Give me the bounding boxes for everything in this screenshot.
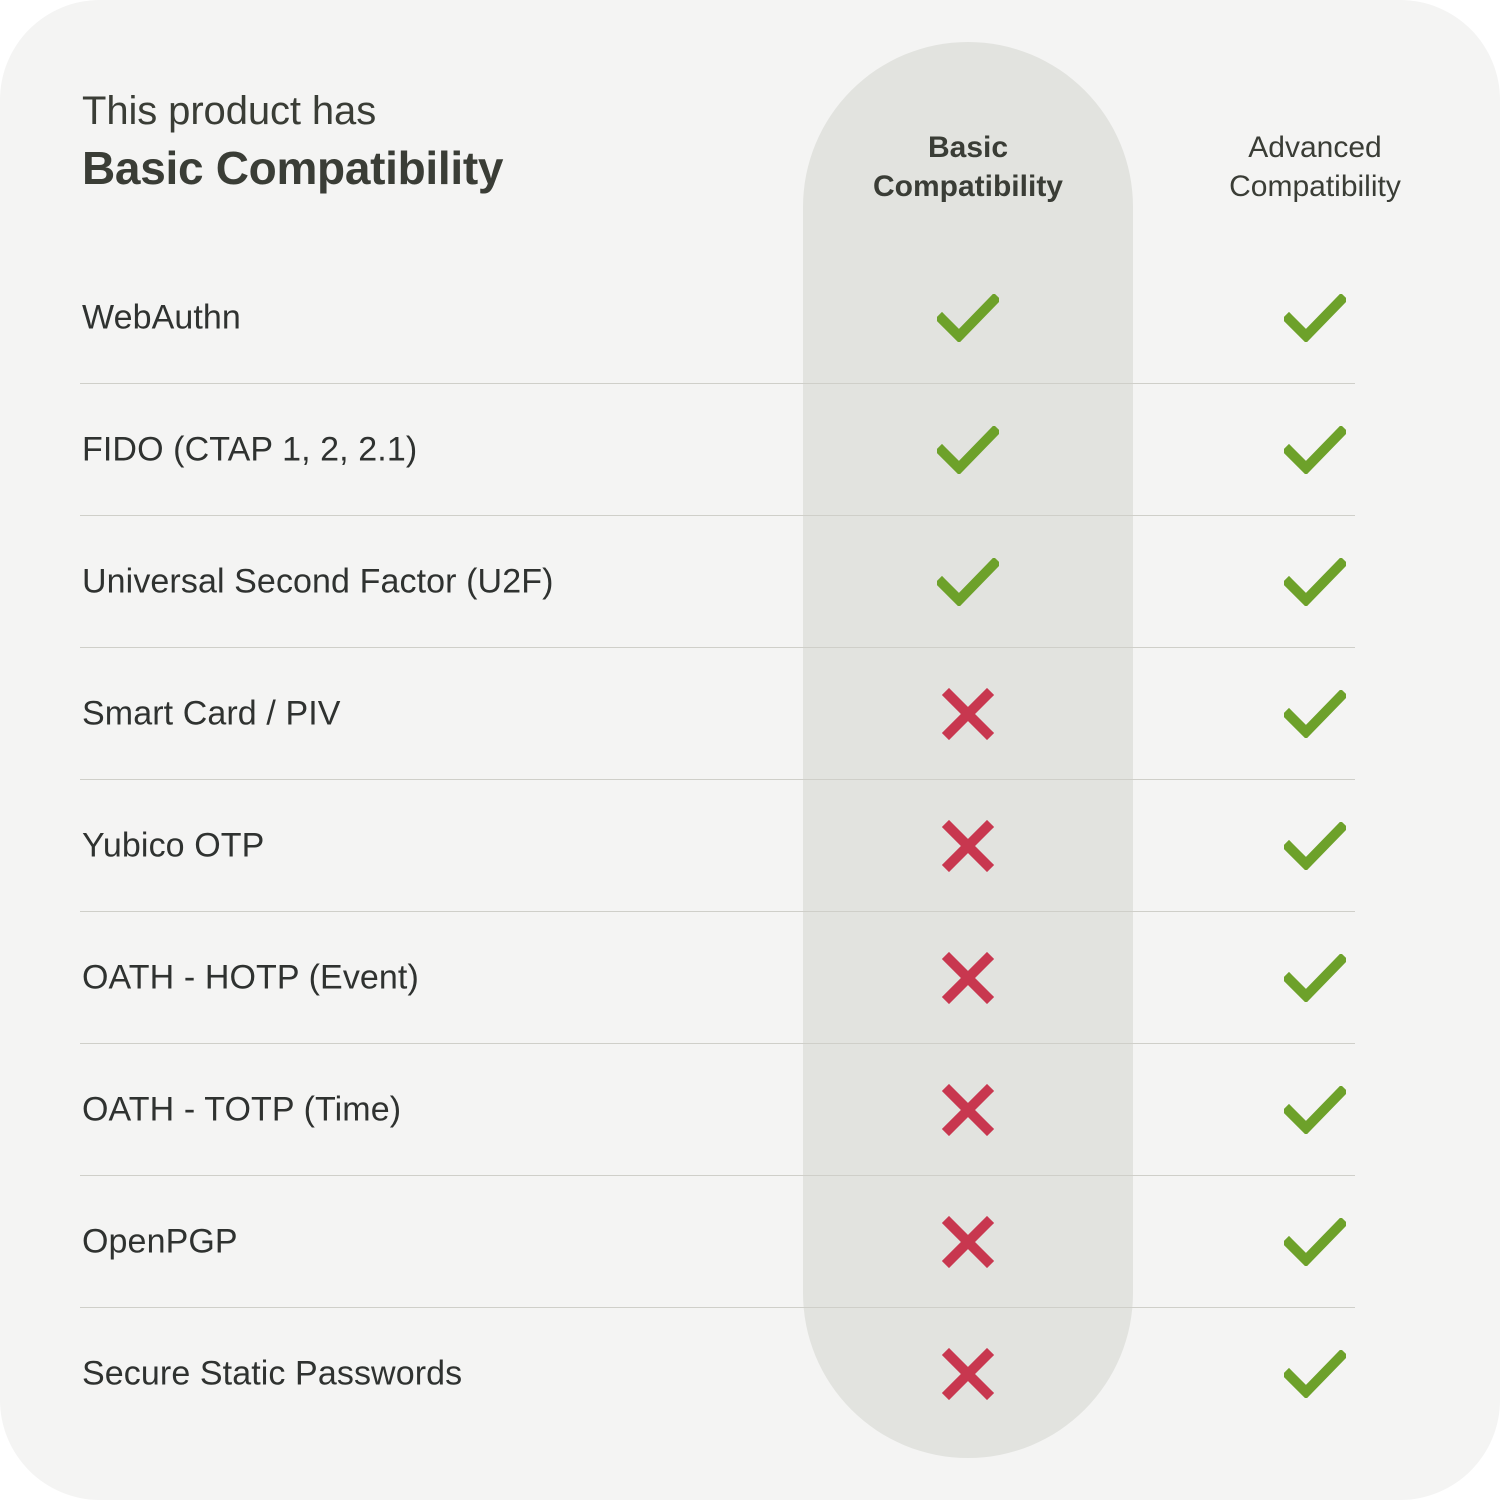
check-icon [1284,1218,1346,1266]
check-icon [1284,558,1346,606]
check-icon [937,558,999,606]
cell-basic [803,816,1133,876]
table-row: Smart Card / PIV [0,648,1500,780]
cell-basic [803,288,1133,348]
table-row: Universal Second Factor (U2F) [0,516,1500,648]
cell-basic [803,948,1133,1008]
check-icon [1284,294,1346,342]
feature-label: Yubico OTP [82,827,264,866]
column-header-basic: Basic Compatibility [803,128,1133,206]
cell-basic [803,684,1133,744]
table-row: WebAuthn [0,252,1500,384]
title-block: This product has Basic Compatibility [82,88,722,195]
feature-label: Universal Second Factor (U2F) [82,563,554,602]
table-row: FIDO (CTAP 1, 2, 2.1) [0,384,1500,516]
check-icon [937,426,999,474]
cell-basic [803,1080,1133,1140]
table-row: OATH - TOTP (Time) [0,1044,1500,1176]
cross-icon [942,688,994,740]
cell-advanced [1150,948,1480,1008]
column-header-advanced: Advanced Compatibility [1150,128,1480,206]
feature-label: OATH - HOTP (Event) [82,959,419,998]
cell-advanced [1150,1344,1480,1404]
cell-advanced [1150,288,1480,348]
check-icon [937,294,999,342]
check-icon [1284,822,1346,870]
cell-advanced [1150,1080,1480,1140]
cross-icon [942,952,994,1004]
cell-advanced [1150,1212,1480,1272]
feature-rows: WebAuthnFIDO (CTAP 1, 2, 2.1)Universal S… [0,252,1500,1440]
table-row: Secure Static Passwords [0,1308,1500,1440]
feature-label: OpenPGP [82,1223,238,1262]
cell-advanced [1150,552,1480,612]
compatibility-card: This product has Basic Compatibility Bas… [0,0,1500,1500]
feature-label: Secure Static Passwords [82,1355,462,1394]
check-icon [1284,954,1346,1002]
feature-label: FIDO (CTAP 1, 2, 2.1) [82,431,417,470]
cell-basic [803,420,1133,480]
cell-basic [803,1212,1133,1272]
cell-advanced [1150,420,1480,480]
title-eyebrow: This product has [82,88,722,135]
table-header: This product has Basic Compatibility Bas… [0,0,1500,252]
cross-icon [942,1084,994,1136]
table-row: OpenPGP [0,1176,1500,1308]
page-title: Basic Compatibility [82,141,722,195]
cross-icon [942,1216,994,1268]
check-icon [1284,1086,1346,1134]
check-icon [1284,426,1346,474]
cell-basic [803,552,1133,612]
check-icon [1284,690,1346,738]
feature-label: WebAuthn [82,299,241,338]
cell-basic [803,1344,1133,1404]
cell-advanced [1150,684,1480,744]
table-row: Yubico OTP [0,780,1500,912]
check-icon [1284,1350,1346,1398]
cross-icon [942,1348,994,1400]
cell-advanced [1150,816,1480,876]
feature-label: OATH - TOTP (Time) [82,1091,401,1130]
table-row: OATH - HOTP (Event) [0,912,1500,1044]
cross-icon [942,820,994,872]
feature-label: Smart Card / PIV [82,695,341,734]
